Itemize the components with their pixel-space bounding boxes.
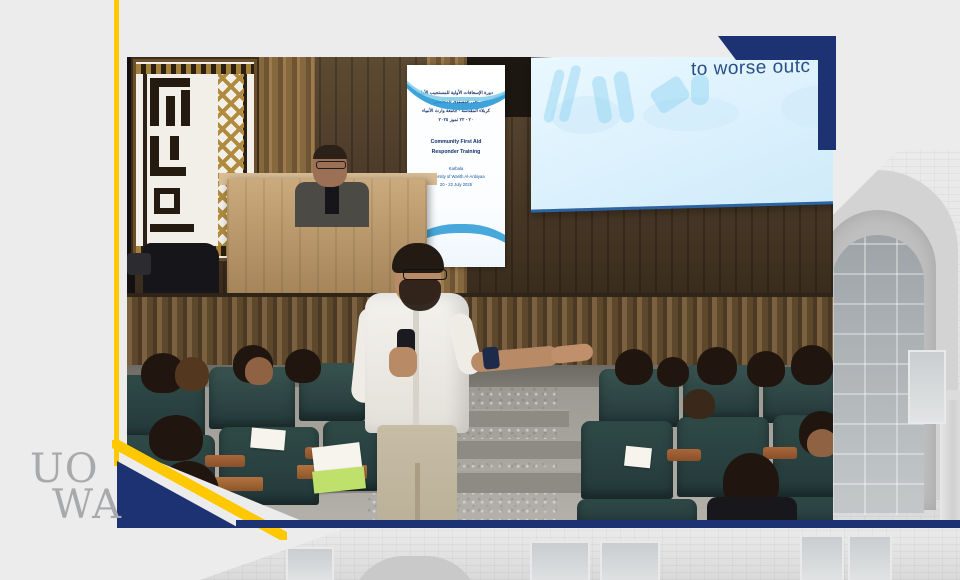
main-photo: دورة الإسعافات الأولية للمستجيب الأول عل… [127,57,833,523]
banner-city: Karbala [407,165,505,173]
glasses-icon [316,161,346,169]
campus-building-backdrop-lower [200,527,960,580]
banner-title-line2: Responder Training [407,147,505,157]
banner-arabic-line4: ٢٠ - ٢٢ تموز ٢٠٢٥ [407,116,505,125]
projector-screen-text: to worse outc [691,57,811,81]
yellow-vertical-rule [114,0,119,466]
uowa-logo: UO WA [30,452,118,526]
poster-canvas: دورة الإسعافات الأولية للمستجيب الأول عل… [0,0,960,580]
projector-screen: to worse outc [531,57,833,210]
logo-text-line2: WA [52,487,122,523]
wristwatch [482,346,500,370]
banner-title-line1: Community First Aid [407,137,505,147]
navy-horizontal-bar [236,520,960,528]
speaker-glasses-icon [403,269,447,280]
